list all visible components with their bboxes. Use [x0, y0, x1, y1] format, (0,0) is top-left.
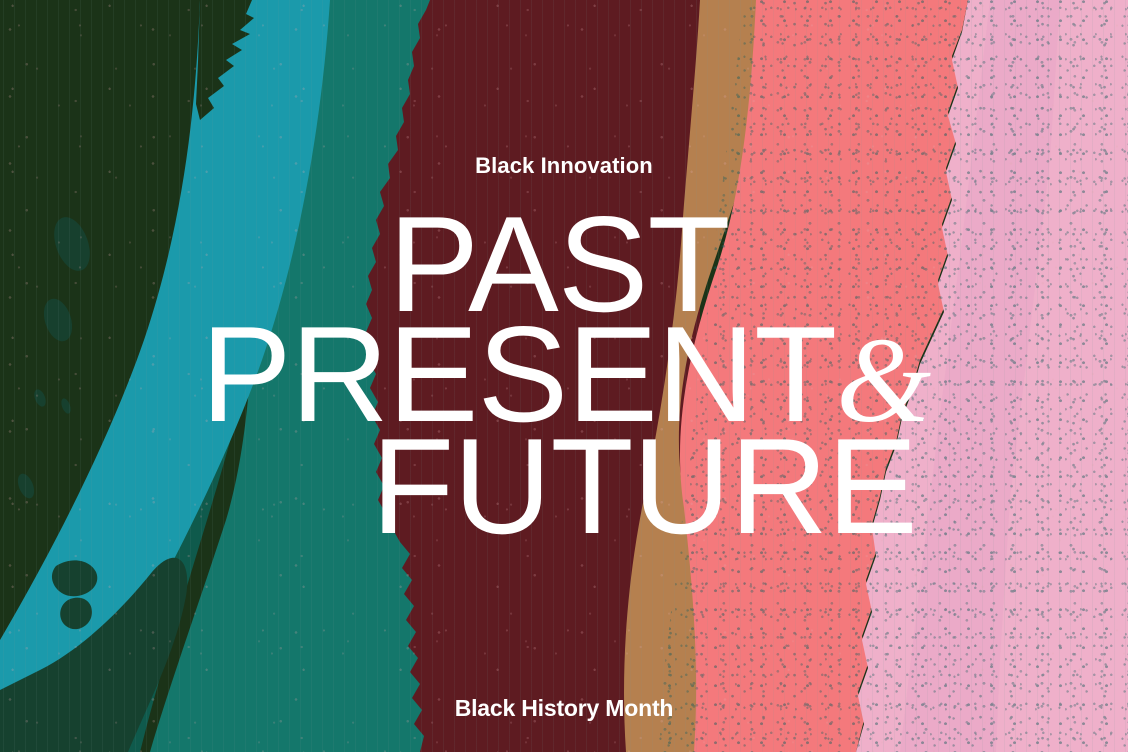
headline-line-future: FUTURE	[0, 428, 1128, 545]
eyebrow-text: Black Innovation	[0, 155, 1128, 177]
poster-canvas: Black Innovation PAST PRESENT& FUTURE Bl…	[0, 0, 1128, 752]
footer-text: Black History Month	[0, 697, 1128, 720]
poster-type: Black Innovation PAST PRESENT& FUTURE Bl…	[0, 0, 1128, 752]
